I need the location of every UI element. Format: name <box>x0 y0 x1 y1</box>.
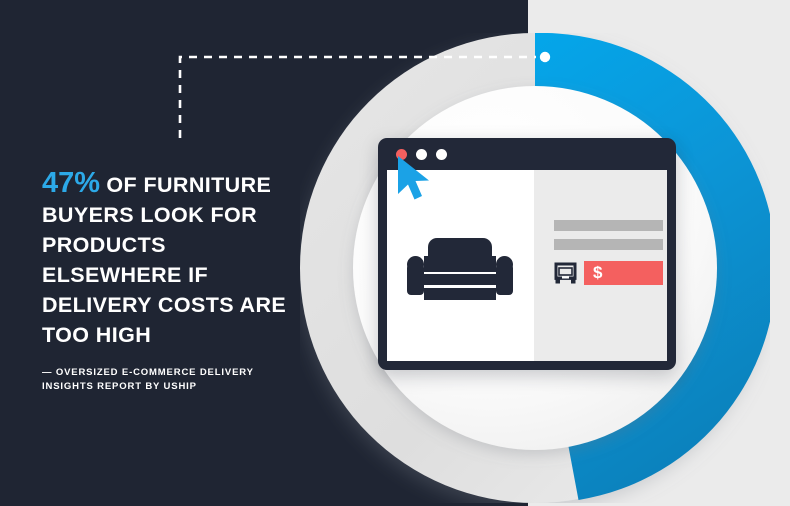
price-symbol: $ <box>593 263 602 283</box>
product-title-placeholder <box>554 220 663 231</box>
browser-window-mockup: $ <box>378 138 676 370</box>
statistic-callout: 47% of furniture buyers look for product… <box>42 168 302 350</box>
product-detail-pane: $ <box>534 170 667 361</box>
headline-rest: of furniture buyers look for products el… <box>42 173 286 347</box>
arrow-cursor-icon <box>395 154 437 202</box>
infographic-canvas: $ 47% of furniture buyers look for produ… <box>0 0 790 506</box>
delivery-truck-icon <box>554 262 577 284</box>
armchair-icon <box>407 238 513 300</box>
source-attribution: — Oversized E-Commerce Delivery Insights… <box>42 366 292 394</box>
product-meta-placeholder <box>554 239 663 250</box>
maximize-dot-icon[interactable] <box>436 149 447 160</box>
page-title: 47% of furniture buyers look for product… <box>42 168 302 350</box>
delivery-price-banner: $ <box>584 261 663 285</box>
stat-value: 47% <box>42 167 100 199</box>
